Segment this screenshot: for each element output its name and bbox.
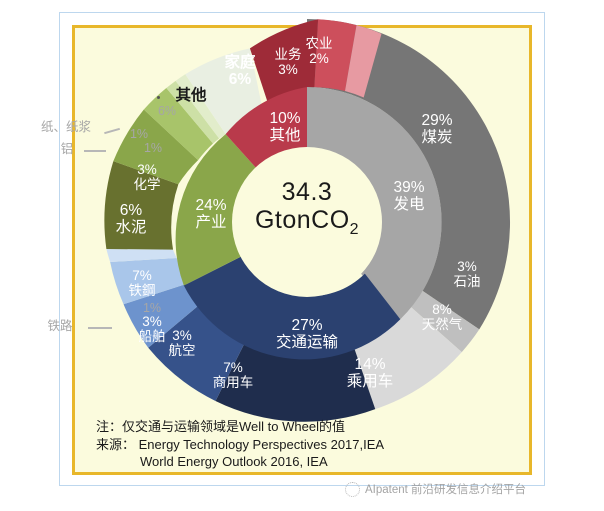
wechat-icon bbox=[345, 482, 360, 497]
footnote: 注：仅交通与运输领域是Well to Wheel的值 来源： Energy Te… bbox=[96, 418, 516, 471]
footnote-source-2: World Energy Outlook 2016, IEA bbox=[96, 453, 516, 471]
center-value-block: 34.3 GtonCO2 bbox=[207, 178, 407, 239]
leader-line-rail bbox=[88, 327, 112, 329]
watermark: AIpatent 前沿研发信息介绍平台 bbox=[345, 481, 526, 497]
watermark-text: AIpatent 前沿研发信息介绍平台 bbox=[365, 481, 526, 497]
footnote-source-1: 来源： Energy Technology Perspectives 2017,… bbox=[96, 436, 516, 454]
leader-dot-other-outer bbox=[157, 96, 160, 99]
center-unit: GtonCO2 bbox=[207, 206, 407, 239]
leader-line-aluminium bbox=[84, 150, 106, 152]
center-value: 34.3 bbox=[207, 178, 407, 206]
footnote-note: 注：仅交通与运输领域是Well to Wheel的值 bbox=[96, 418, 516, 436]
